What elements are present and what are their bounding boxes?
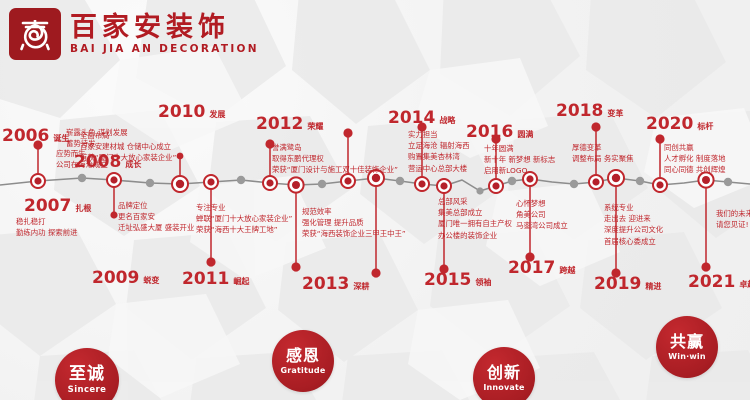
milestone-2017-lines: 心怀梦想 角美公司 马銮湾公司成立 — [516, 198, 568, 232]
milestone-2021-lines: 我们的未来 请您见证! — [716, 208, 750, 230]
value-badge-winwin[interactable]: 共赢 Win·win — [656, 316, 718, 378]
milestone-2014-lines: 实力担当 立足海沧 辐射海西 购置集美杏林湾 营运中心总部大楼 — [408, 129, 469, 174]
milestone-2016-lines: 十年圆满 新十年 新梦想 新标志 启用新LOGO — [484, 143, 555, 177]
milestone-2010-lines: 全面布局 百家安建材城 仓储中心成立 首获“厦门十大放心家装企业” — [80, 130, 176, 164]
milestone-2011-lines: 专注专业 蝉联“厦门十大放心家装企业” 荣获“海西十大王牌工地” — [196, 202, 292, 236]
milestone-2007-lines: 稳扎稳打 勤练内功 探索前进 — [16, 216, 77, 238]
brand-wordmark: 百家安装饰 BAI JIA AN DECORATION — [70, 13, 259, 56]
milestone-year-2007: 2007扎根 — [24, 196, 91, 216]
milestone-2016[interactable]: 2016圆满 — [466, 122, 533, 142]
brand-header: 百家安装饰 BAI JIA AN DECORATION — [0, 0, 259, 60]
milestone-2007[interactable]: 2007扎根 — [24, 196, 91, 216]
milestone-year-2010: 2010发展 — [158, 102, 225, 122]
milestone-2009[interactable]: 2009蜕变 — [92, 268, 159, 288]
milestone-2009-lines: 品牌定位 更名百家安 迁址弘盛大厦 盛装开业 — [118, 200, 194, 234]
milestone-connectors — [0, 0, 750, 400]
milestone-year-2009: 2009蜕变 — [92, 268, 159, 288]
milestone-year-2020: 2020标杆 — [646, 114, 713, 134]
brand-name-cn: 百家安装饰 — [70, 13, 259, 43]
milestone-2021[interactable]: 2021卓越 — [688, 272, 750, 292]
milestone-year-2015: 2015领袖 — [424, 270, 491, 290]
milestone-2011[interactable]: 2011崛起 — [182, 269, 249, 289]
milestone-2018[interactable]: 2018变革 — [556, 101, 623, 121]
milestone-2006[interactable]: 2006诞生 — [2, 126, 69, 146]
milestone-2019-lines: 系统专业 走出去 迎进来 深度提升公司文化 首届核心委成立 — [604, 202, 663, 247]
infographic-canvas: 百家安装饰 BAI JIA AN DECORATION — [0, 0, 750, 400]
milestone-2010[interactable]: 2010发展 — [158, 102, 225, 122]
value-badge-innovate[interactable]: 创新 Innovate — [473, 347, 535, 400]
milestone-year-2016: 2016圆满 — [466, 122, 533, 142]
milestone-year-2011: 2011崛起 — [182, 269, 249, 289]
milestone-2020-lines: 同创共赢 人才孵化 制度落地 同心同德 共创辉煌 — [664, 142, 725, 176]
milestone-2014[interactable]: 2014战略 — [388, 108, 455, 128]
value-badge-gratitude[interactable]: 感恩 Gratitude — [272, 330, 334, 392]
logo-mark — [9, 8, 61, 60]
milestone-2017[interactable]: 2017跨越 — [508, 258, 575, 278]
brand-name-en: BAI JIA AN DECORATION — [70, 43, 259, 56]
milestone-year-2014: 2014战略 — [388, 108, 455, 128]
milestone-2018-lines: 厚德变革 调整布局 务实聚焦 — [572, 142, 633, 164]
milestone-2015-lines: 总部风采 集美总部成立 厦门唯一拥有自主产权 办公楼的装饰企业 — [438, 196, 512, 241]
milestone-year-2017: 2017跨越 — [508, 258, 575, 278]
milestone-2019[interactable]: 2019精进 — [594, 274, 661, 294]
milestone-year-2013: 2013深耕 — [302, 274, 369, 294]
milestone-year-2018: 2018变革 — [556, 101, 623, 121]
milestone-2013[interactable]: 2013深耕 — [302, 274, 369, 294]
milestone-2013-lines: 规范效率 强化管理 提升品质 荣获“海西装饰企业三甲王中王” — [302, 206, 406, 240]
milestone-year-2006: 2006诞生 — [2, 126, 69, 146]
milestone-2012[interactable]: 2012荣耀 — [256, 114, 323, 134]
milestone-2020[interactable]: 2020标杆 — [646, 114, 713, 134]
milestone-2015[interactable]: 2015领袖 — [424, 270, 491, 290]
milestone-year-2021: 2021卓越 — [688, 272, 750, 292]
seal-spiral-icon — [15, 14, 55, 54]
milestone-year-2012: 2012荣耀 — [256, 114, 323, 134]
milestone-year-2019: 2019精进 — [594, 274, 661, 294]
milestone-2012-lines: 誉满鹭岛 取得东鹏代理权 荣获“厦门设计与施工双十佳装饰企业” — [272, 142, 398, 176]
